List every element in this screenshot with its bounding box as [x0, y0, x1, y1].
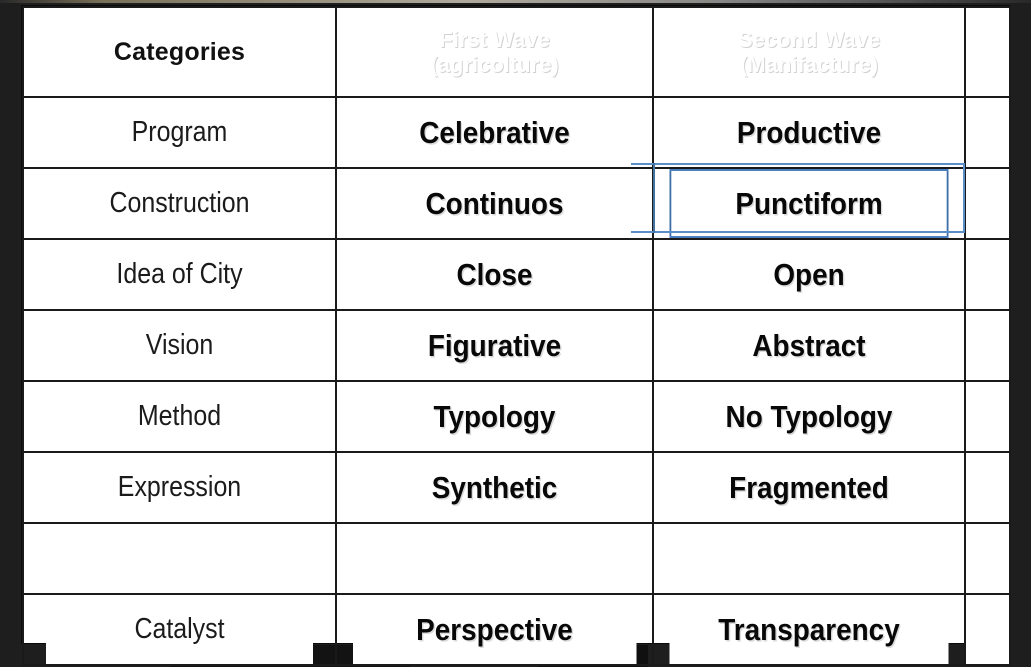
table-row-empty: [23, 523, 1010, 594]
cell-category[interactable]: [45, 523, 314, 594]
cell-first-wave[interactable]: Figurative: [352, 310, 637, 381]
table-row: Idea of City Close Open: [23, 239, 1010, 310]
top-edge-strip: [0, 0, 1031, 3]
cell-second-wave[interactable]: Abstract: [669, 310, 950, 381]
cell-extra[interactable]: [965, 239, 1010, 310]
cell-category[interactable]: Expression: [45, 452, 314, 523]
cell-first-wave[interactable]: Perspective: [352, 594, 637, 665]
cell-category[interactable]: Method: [45, 381, 314, 452]
table-row: Vision Figurative Abstract: [23, 310, 1010, 381]
header-cell-extra[interactable]: [965, 7, 1010, 97]
cell-extra[interactable]: [965, 97, 1010, 168]
comparison-table: Categories First Wave (agricolture) Seco…: [22, 6, 1011, 666]
cell-extra[interactable]: [965, 452, 1010, 523]
cell-first-wave[interactable]: Celebrative: [352, 97, 637, 168]
cell-category[interactable]: Program: [45, 97, 314, 168]
header-first-wave-line2: (agricolture): [343, 52, 646, 77]
cell-second-wave[interactable]: Fragmented: [669, 452, 950, 523]
cell-extra[interactable]: [965, 594, 1010, 665]
comparison-table-container: Categories First Wave (agricolture) Seco…: [22, 6, 1009, 643]
cell-first-wave[interactable]: Close: [352, 239, 637, 310]
table-row: Expression Synthetic Fragmented: [23, 452, 1010, 523]
cell-second-wave[interactable]: Open: [669, 239, 950, 310]
cell-second-wave[interactable]: Productive: [669, 97, 950, 168]
cell-first-wave[interactable]: [352, 523, 637, 594]
cell-extra[interactable]: [965, 523, 1010, 594]
header-first-wave-line1: First Wave: [343, 27, 646, 52]
cell-second-wave-selected[interactable]: Punctiform: [669, 168, 950, 239]
cell-category[interactable]: Catalyst: [45, 594, 314, 665]
table-row: Method Typology No Typology: [23, 381, 1010, 452]
cell-extra[interactable]: [965, 381, 1010, 452]
cell-category[interactable]: Construction: [45, 168, 314, 239]
cell-extra[interactable]: [965, 310, 1010, 381]
cell-second-wave[interactable]: [669, 523, 950, 594]
cell-category[interactable]: Idea of City: [45, 239, 314, 310]
table-row: Program Celebrative Productive: [23, 97, 1010, 168]
header-second-wave-line2: (Manifacture): [660, 52, 958, 77]
cell-extra[interactable]: [965, 168, 1010, 239]
header-cell-first-wave[interactable]: First Wave (agricolture): [336, 7, 653, 97]
cell-second-wave[interactable]: Transparency: [669, 594, 950, 665]
cell-first-wave[interactable]: Synthetic: [352, 452, 637, 523]
table-row: Construction Continuos Punctiform: [23, 168, 1010, 239]
cell-category[interactable]: Vision: [45, 310, 314, 381]
header-cell-categories[interactable]: Categories: [23, 7, 336, 97]
header-second-wave-line1: Second Wave: [660, 27, 958, 52]
table-header-row: Categories First Wave (agricolture) Seco…: [23, 7, 1010, 97]
cell-first-wave[interactable]: Typology: [352, 381, 637, 452]
cell-second-wave[interactable]: No Typology: [669, 381, 950, 452]
cell-first-wave[interactable]: Continuos: [352, 168, 637, 239]
header-cell-second-wave[interactable]: Second Wave (Manifacture): [653, 7, 965, 97]
table-row: Catalyst Perspective Transparency: [23, 594, 1010, 665]
